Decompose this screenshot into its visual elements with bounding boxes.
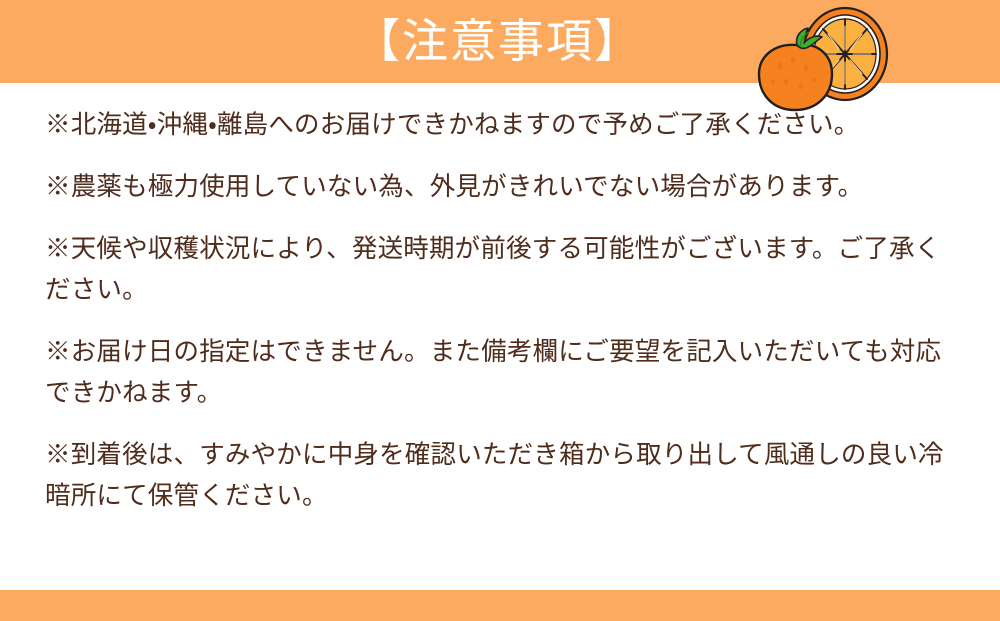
notice-panel: 【注意事項】 bbox=[0, 0, 1000, 621]
notice-item-shipping-area: ※北海道・沖縄・離島へのお届けできかねますので予めご了承ください。 bbox=[45, 104, 963, 145]
notice-item-weather-harvest-timing: ※天候や収穫状況により、発送時期が前後する可能性がございます。ご了承ください。 bbox=[45, 228, 963, 310]
notice-item-pesticide-appearance: ※農薬も極力使用していない為、外見がきれいでない場合があります。 bbox=[45, 166, 963, 207]
orange-fruit-illustration bbox=[756, 2, 904, 118]
notice-item-no-delivery-date: ※お届け日の指定はできません。また備考欄にご要望を記入いただいても対応できかねま… bbox=[45, 331, 963, 413]
notice-item-after-arrival-storage: ※到着後は、すみやかに中身を確認いただき箱から取り出して風通しの良い冷暗所にて保… bbox=[45, 434, 963, 516]
notice-list: ※北海道・沖縄・離島へのお届けできかねますので予めご了承ください。 ※農薬も極力… bbox=[45, 104, 963, 516]
footer-band bbox=[0, 590, 1000, 621]
